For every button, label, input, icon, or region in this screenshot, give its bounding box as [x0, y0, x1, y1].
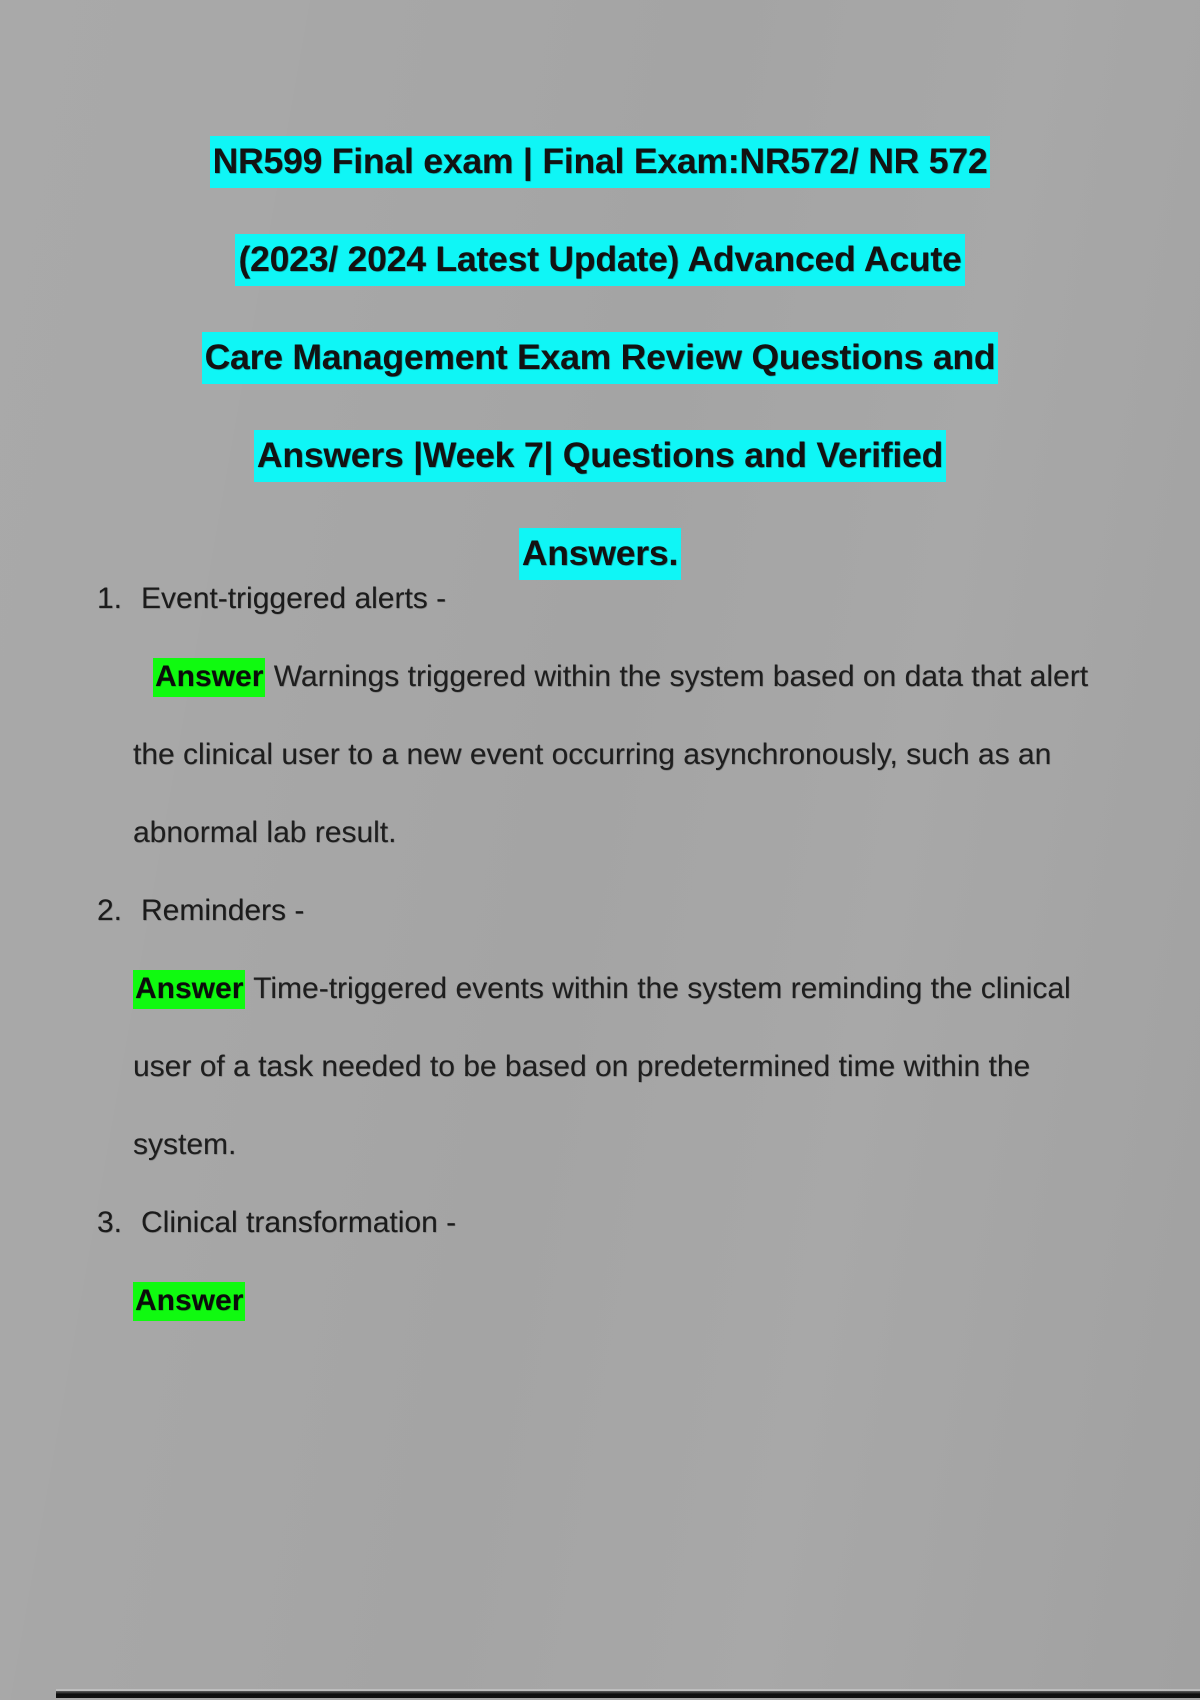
answer-block-2: Answer Time-triggered events within the … — [0, 950, 1200, 1184]
answer-label-3: Answer — [133, 1282, 245, 1321]
answer-block-1: Answer Warnings triggered within the sys… — [0, 638, 1200, 872]
document-title: NR599 Final exam | Final Exam:NR572/ NR … — [95, 118, 1105, 608]
answer-text-2: Time-triggered events within the system … — [133, 972, 1071, 1161]
qa-item-1: 1. Event-triggered alerts - Answer Warni… — [0, 560, 1200, 872]
qa-item-2: 2. Reminders - Answer Time-triggered eve… — [0, 872, 1200, 1184]
answer-block-3: Answer — [0, 1262, 1200, 1340]
question-text-1: Event-triggered alerts - — [141, 582, 446, 615]
title-line-3-text: Care Management Exam Review Questions an… — [202, 332, 999, 384]
title-line-1: NR599 Final exam | Final Exam:NR572/ NR … — [95, 118, 1105, 216]
title-line-1-text: NR599 Final exam | Final Exam:NR572/ NR … — [210, 136, 991, 188]
title-line-2-text: (2023/ 2024 Latest Update) Advanced Acut… — [235, 234, 964, 286]
answer-label-1: Answer — [153, 658, 265, 697]
document-page: NR599 Final exam | Final Exam:NR572/ NR … — [0, 0, 1200, 1700]
answer-text-1: Warnings triggered within the system bas… — [133, 660, 1088, 849]
question-number-2: 2. — [97, 872, 141, 950]
question-line-3: 3. Clinical transformation - — [0, 1184, 1200, 1262]
question-line-2: 2. Reminders - — [0, 872, 1200, 950]
scan-bottom-edge — [56, 1691, 1200, 1698]
question-text-2: Reminders - — [141, 894, 304, 927]
question-line-1: 1. Event-triggered alerts - — [0, 560, 1200, 638]
question-text-3: Clinical transformation - — [141, 1206, 456, 1239]
qa-item-3: 3. Clinical transformation - Answer — [0, 1184, 1200, 1340]
question-number-1: 1. — [97, 560, 141, 638]
title-line-2: (2023/ 2024 Latest Update) Advanced Acut… — [95, 216, 1105, 314]
title-line-3: Care Management Exam Review Questions an… — [95, 314, 1105, 412]
question-answer-list: 1. Event-triggered alerts - Answer Warni… — [0, 560, 1200, 1340]
title-line-4: Answers |Week 7| Questions and Verified — [95, 412, 1105, 510]
question-number-3: 3. — [97, 1184, 141, 1262]
title-line-4-text: Answers |Week 7| Questions and Verified — [254, 430, 946, 482]
answer-label-2: Answer — [133, 970, 245, 1009]
